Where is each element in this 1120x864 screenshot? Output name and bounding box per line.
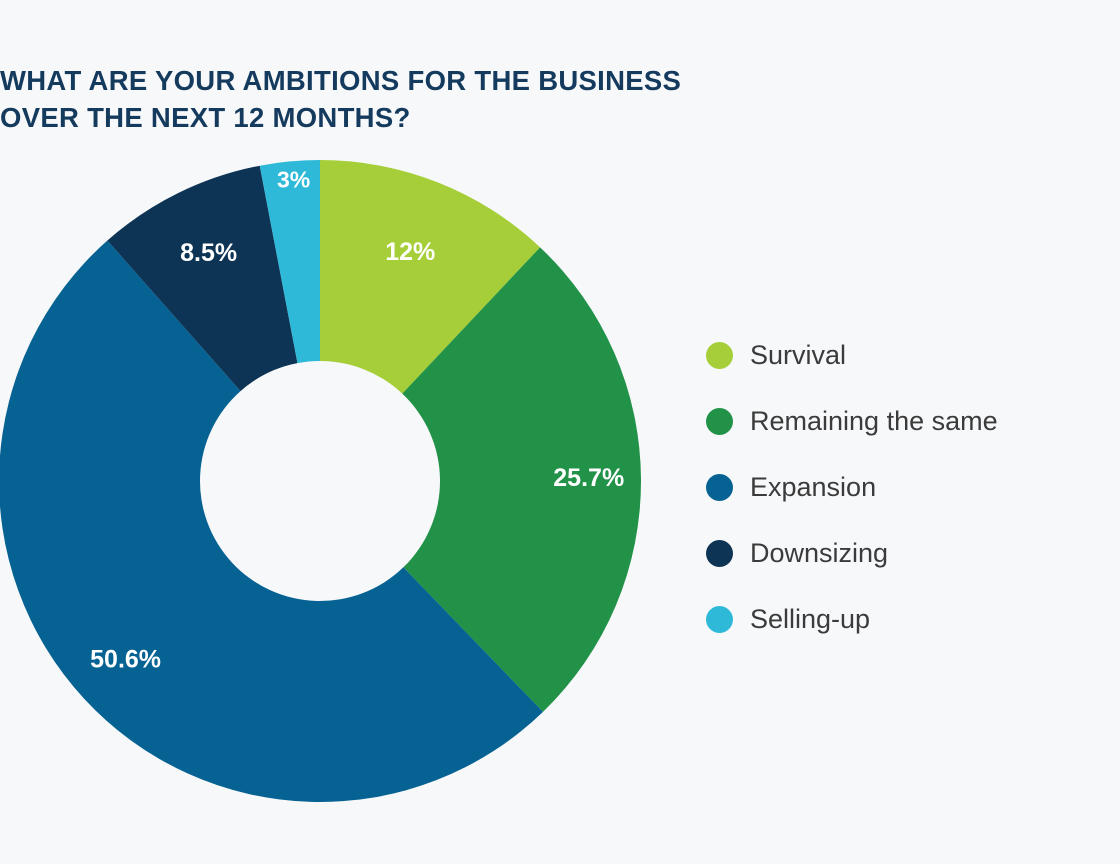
legend-item-label: Selling-up — [750, 604, 870, 634]
slice-value-label: 3% — [277, 167, 310, 193]
legend-dot-icon — [706, 606, 733, 633]
chart-page: WHAT ARE YOUR AMBITIONS FOR THE BUSINESS… — [0, 0, 1120, 864]
legend-item-expansion[interactable]: Expansion — [706, 454, 1106, 520]
legend-item-label: Survival — [750, 340, 846, 370]
legend-item-label: Remaining the same — [750, 406, 998, 436]
donut-slice-layer — [0, 160, 641, 802]
donut-chart-svg: 12%25.7%50.6%8.5%3% — [0, 140, 700, 840]
legend-dot-icon — [706, 474, 733, 501]
legend-item-remaining-the-same[interactable]: Remaining the same — [706, 388, 1106, 454]
legend-item-label: Downsizing — [750, 538, 888, 568]
slice-value-label: 12% — [385, 238, 435, 266]
legend-dot-icon — [706, 342, 733, 369]
slice-value-label: 25.7% — [553, 464, 624, 492]
slice-value-label: 8.5% — [180, 239, 237, 267]
legend-item-survival[interactable]: Survival — [706, 322, 1106, 388]
chart-legend: SurvivalRemaining the sameExpansionDowns… — [706, 322, 1106, 652]
legend-item-downsizing[interactable]: Downsizing — [706, 520, 1106, 586]
legend-dot-icon — [706, 408, 733, 435]
donut-chart: 12%25.7%50.6%8.5%3% — [0, 140, 700, 840]
legend-dot-icon — [706, 540, 733, 567]
slice-value-label: 50.6% — [90, 645, 161, 673]
legend-item-label: Expansion — [750, 472, 876, 502]
legend-item-selling-up[interactable]: Selling-up — [706, 586, 1106, 652]
page-title: WHAT ARE YOUR AMBITIONS FOR THE BUSINESS… — [0, 62, 820, 136]
